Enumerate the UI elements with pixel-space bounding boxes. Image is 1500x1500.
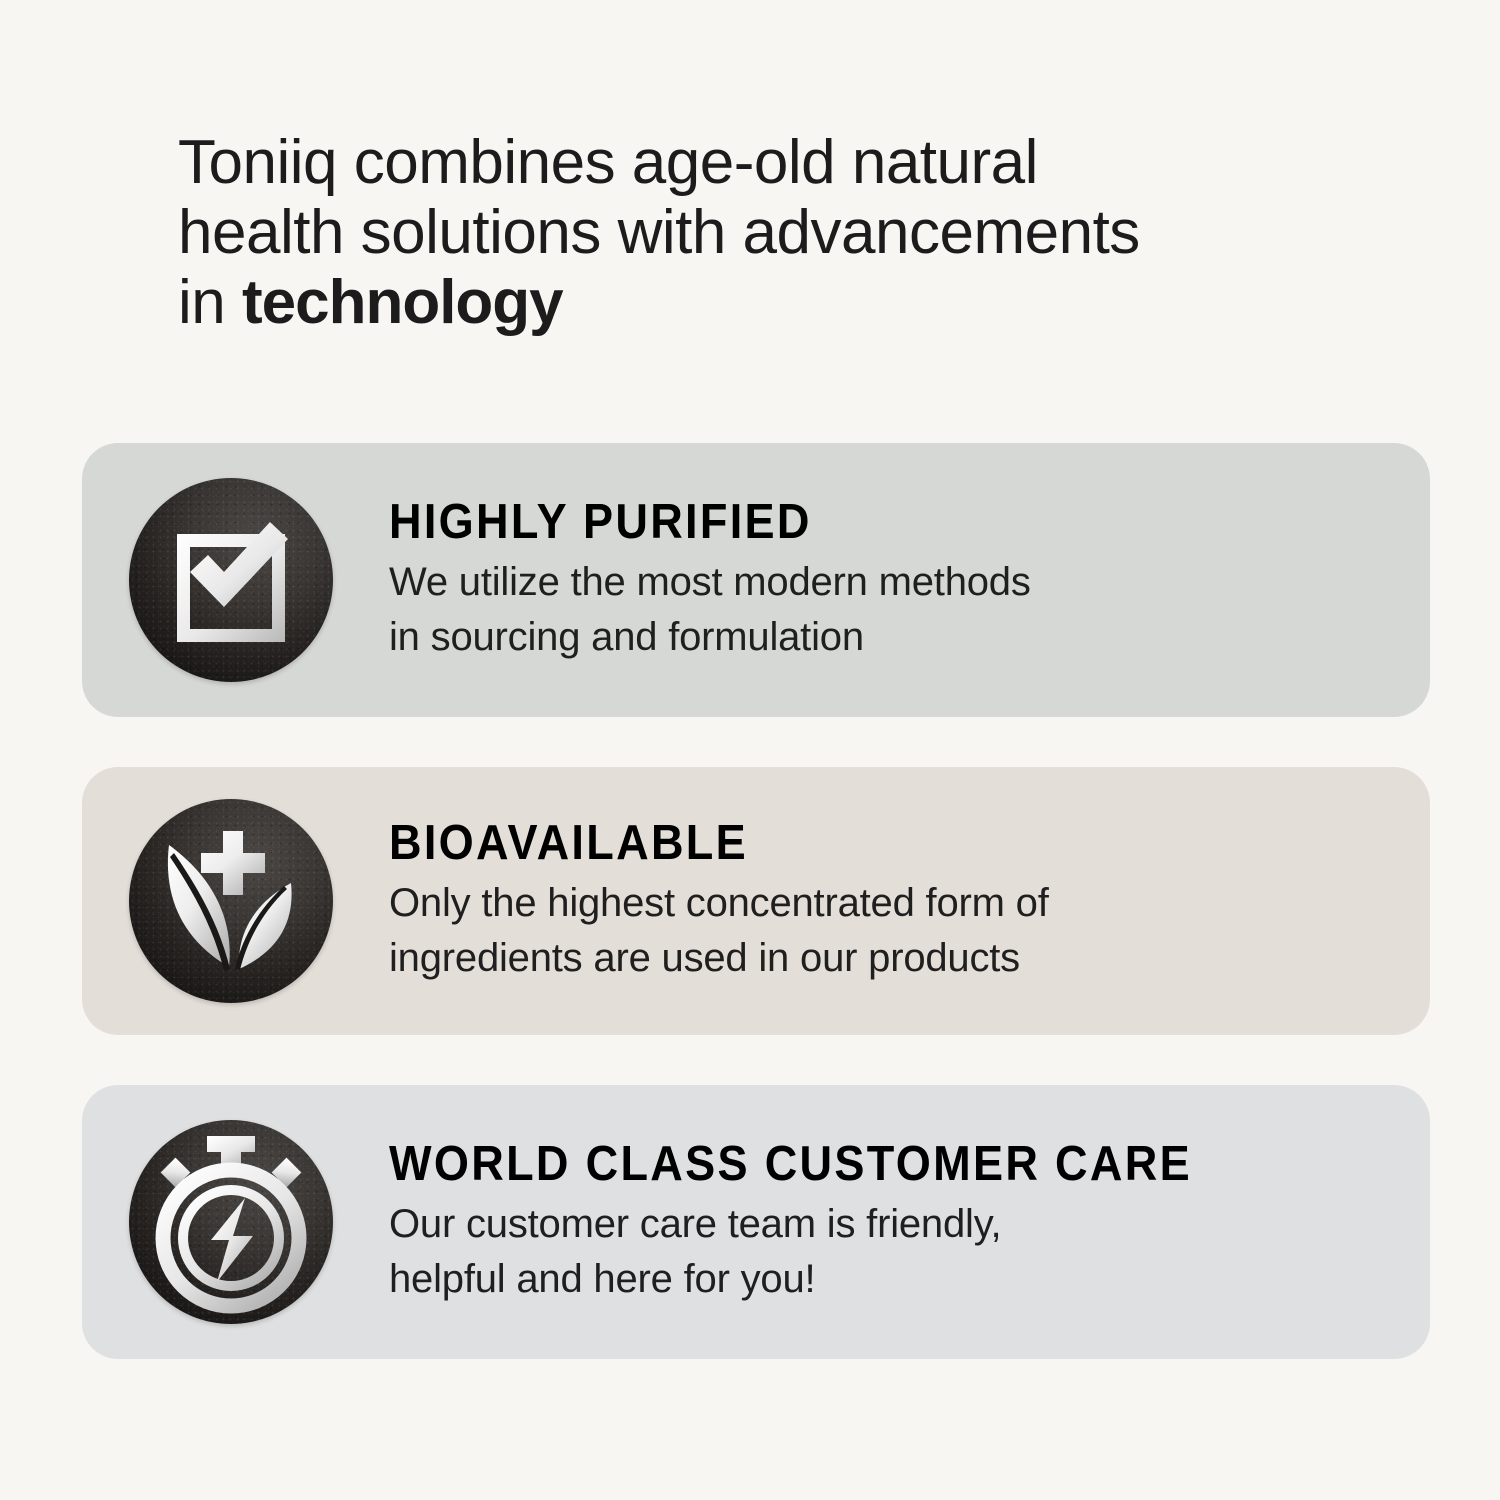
card-description-line-1: Our customer care team is friendly, [389,1197,1390,1252]
card-description-line-2: in sourcing and formulation [389,610,1390,665]
feature-card-bioavailable[interactable]: BIOAVAILABLE Only the highest concentrat… [82,767,1430,1035]
feature-card-highly-purified[interactable]: HIGHLY PURIFIED We utilize the most mode… [82,443,1430,717]
card-description: Only the highest concentrated form of in… [389,876,1390,986]
stopwatch-bolt-icon [129,1120,333,1324]
card-title: WORLD CLASS CUSTOMER CARE [389,1137,1310,1191]
checkbox-check-icon [129,478,333,682]
card-title: HIGHLY PURIFIED [389,495,1310,549]
card-description: We utilize the most modern methods in so… [389,555,1390,665]
headline-line-3-prefix: in [178,268,242,337]
card-description-line-1: We utilize the most modern methods [389,555,1390,610]
card-description-line-2: ingredients are used in our products [389,931,1390,986]
card-description: Our customer care team is friendly, help… [389,1197,1390,1307]
headline-line-2: health solutions with advancements [178,198,1140,267]
headline-line-1: Toniiq combines age-old natural [178,128,1038,197]
card-text-block: WORLD CLASS CUSTOMER CARE Our customer c… [389,1137,1430,1307]
icon-wrapper [129,799,333,1003]
card-text-block: BIOAVAILABLE Only the highest concentrat… [389,816,1430,986]
feature-card-world-class-customer-care[interactable]: WORLD CLASS CUSTOMER CARE Our customer c… [82,1085,1430,1359]
feature-card-list: HIGHLY PURIFIED We utilize the most mode… [82,443,1430,1359]
card-text-block: HIGHLY PURIFIED We utilize the most mode… [389,495,1430,665]
card-title: BIOAVAILABLE [389,816,1310,870]
card-description-line-1: Only the highest concentrated form of [389,876,1390,931]
headline-emphasis-technology: technology [242,268,563,337]
icon-wrapper [129,1120,333,1324]
page-headline: Toniiq combines age-old natural health s… [178,128,1338,338]
icon-wrapper [129,478,333,682]
leaf-plus-icon [129,799,333,1003]
card-description-line-2: helpful and here for you! [389,1252,1390,1307]
